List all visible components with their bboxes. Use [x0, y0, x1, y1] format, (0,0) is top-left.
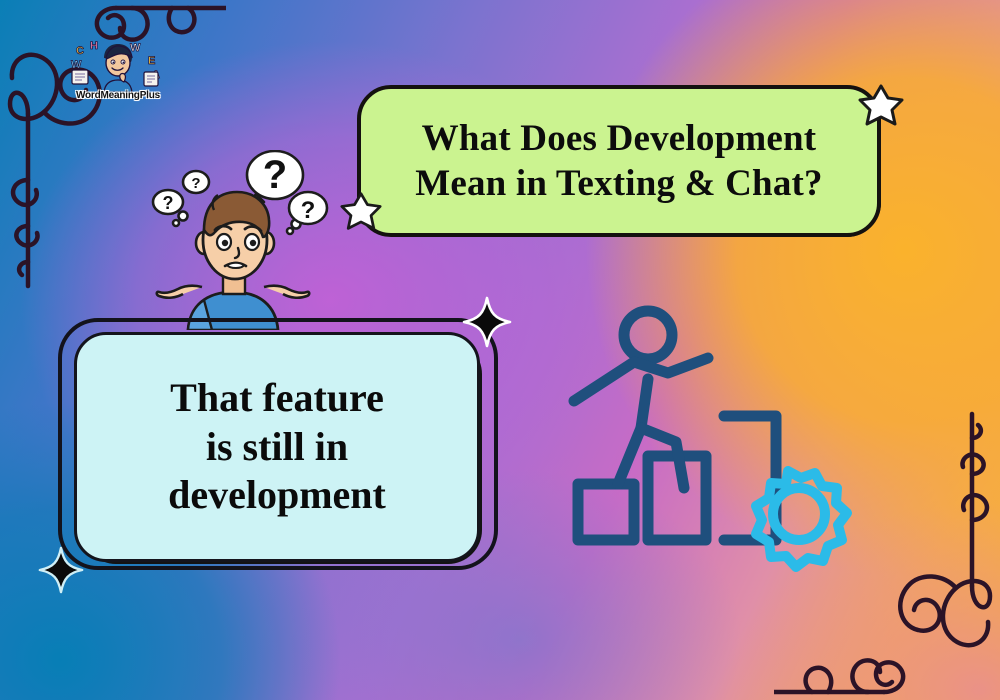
quote-line-1: That feature	[170, 375, 384, 420]
page-title: What Does Development Mean in Texting & …	[401, 116, 837, 206]
sparkle-bottom-left-icon	[38, 546, 84, 594]
person-climbing-stairs-with-gear-icon	[556, 296, 876, 596]
svg-text:C: C	[76, 45, 84, 57]
title-card: What Does Development Mean in Texting & …	[357, 85, 881, 237]
svg-text:H: H	[90, 40, 98, 52]
svg-text:?: ?	[263, 153, 287, 197]
quote-line-2: is still in	[206, 424, 348, 469]
sparkle-mid-icon	[462, 296, 512, 348]
svg-text:?: ?	[301, 197, 316, 224]
confused-shrugging-man-icon: ? ? ? ?	[128, 150, 338, 330]
brand-logo[interactable]: C W H W E A WordMeaningPlus	[58, 38, 178, 110]
quote-card: That feature is still in development	[74, 332, 480, 562]
title-line-2: Mean in Texting & Chat?	[415, 163, 823, 204]
star-title-left-icon	[340, 190, 382, 232]
brand-name-label: WordMeaningPlus	[58, 90, 178, 101]
star-top-right-icon	[858, 82, 904, 128]
title-line-1: What Does Development	[422, 118, 817, 159]
svg-text:W: W	[130, 42, 141, 54]
svg-text:?: ?	[191, 175, 200, 192]
svg-text:W: W	[71, 59, 82, 71]
quote-text: That feature is still in development	[168, 374, 386, 520]
poster-canvas: C W H W E A WordMeaningPlus	[0, 0, 1000, 700]
thinking-man-with-letters-logo-icon: C W H W E A	[68, 38, 168, 92]
svg-text:E: E	[148, 55, 155, 67]
svg-text:?: ?	[163, 193, 174, 213]
quote-line-3: development	[168, 472, 386, 517]
